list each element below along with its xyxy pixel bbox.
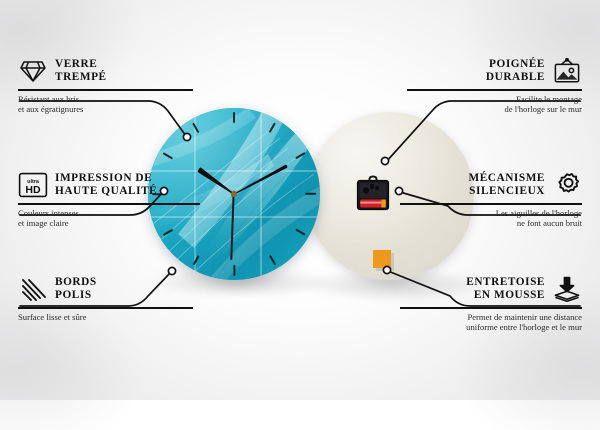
diagonal-lines-icon bbox=[18, 274, 48, 304]
clock-center-cap bbox=[231, 191, 237, 197]
callout-divider bbox=[407, 89, 582, 91]
gear-icon bbox=[552, 170, 582, 200]
mechanism-icon bbox=[352, 172, 394, 214]
svg-text:HD: HD bbox=[25, 184, 41, 196]
callout-title: MÉCANISMESILENCIEUX bbox=[469, 172, 546, 197]
callout-subtitle: Surface lisse et sûre bbox=[18, 312, 193, 322]
callout-subtitle: Couleurs intenseset image claire bbox=[18, 208, 200, 229]
callout-title: ENTRETOISEEN MOUSSE bbox=[466, 276, 545, 301]
callout-subtitle: Facilite le montagede l'horloge sur le m… bbox=[407, 94, 582, 115]
callout-title: BORDSPOLIS bbox=[55, 276, 97, 301]
callout-header: POIGNÉEDURABLE bbox=[407, 56, 582, 86]
callout-title: POIGNÉEDURABLE bbox=[486, 58, 545, 83]
ultra-hd-icon: ultra HD bbox=[18, 170, 48, 200]
framed-picture-hanging-icon bbox=[552, 56, 582, 86]
callout-entretoise-en-mousse[interactable]: ENTRETOISEEN MOUSSE Permet de maintenir … bbox=[400, 274, 582, 332]
callout-bords-polis[interactable]: BORDSPOLIS Surface lisse et sûre bbox=[18, 274, 193, 322]
callout-title: IMPRESSION DEHAUTE QUALITÉ bbox=[55, 172, 157, 197]
arrow-down-layers-icon bbox=[552, 274, 582, 304]
callout-poignee-durable[interactable]: POIGNÉEDURABLE Facilite le montagede l'h… bbox=[407, 56, 582, 114]
callout-divider bbox=[400, 307, 582, 309]
callout-header: BORDSPOLIS bbox=[18, 274, 193, 304]
callout-header: VERRETREMPÉ bbox=[18, 56, 193, 86]
callout-header: ultra HD IMPRESSION DEHAUTE QUALITÉ bbox=[18, 170, 200, 200]
callout-divider bbox=[18, 203, 200, 205]
clock-mechanism bbox=[352, 172, 394, 214]
callout-subtitle: Permet de maintenir une distanceuniforme… bbox=[400, 312, 582, 333]
diamond-icon bbox=[18, 56, 48, 86]
callout-subtitle: Les aiguilles de l'horlogene font aucun … bbox=[400, 208, 582, 229]
callout-divider bbox=[400, 203, 582, 205]
clock-hour-marker bbox=[233, 265, 235, 276]
foam-spacer-pad bbox=[373, 250, 391, 268]
callout-title: VERRETREMPÉ bbox=[55, 58, 107, 83]
callout-header: MÉCANISMESILENCIEUX bbox=[400, 170, 582, 200]
infographic-canvas: VERRETREMPÉ Résistant aux briset aux égr… bbox=[0, 0, 600, 400]
callout-impression-haute-qualite[interactable]: ultra HD IMPRESSION DEHAUTE QUALITÉ Coul… bbox=[18, 170, 200, 228]
callout-header: ENTRETOISEEN MOUSSE bbox=[400, 274, 582, 304]
callout-verre-trempe[interactable]: VERRETREMPÉ Résistant aux briset aux égr… bbox=[18, 56, 193, 114]
callout-subtitle: Résistant aux briset aux égratignures bbox=[18, 94, 193, 115]
callout-divider bbox=[18, 89, 193, 91]
callout-divider bbox=[18, 307, 193, 309]
callout-mecanisme-silencieux[interactable]: MÉCANISMESILENCIEUX Les aiguilles de l'h… bbox=[400, 170, 582, 228]
